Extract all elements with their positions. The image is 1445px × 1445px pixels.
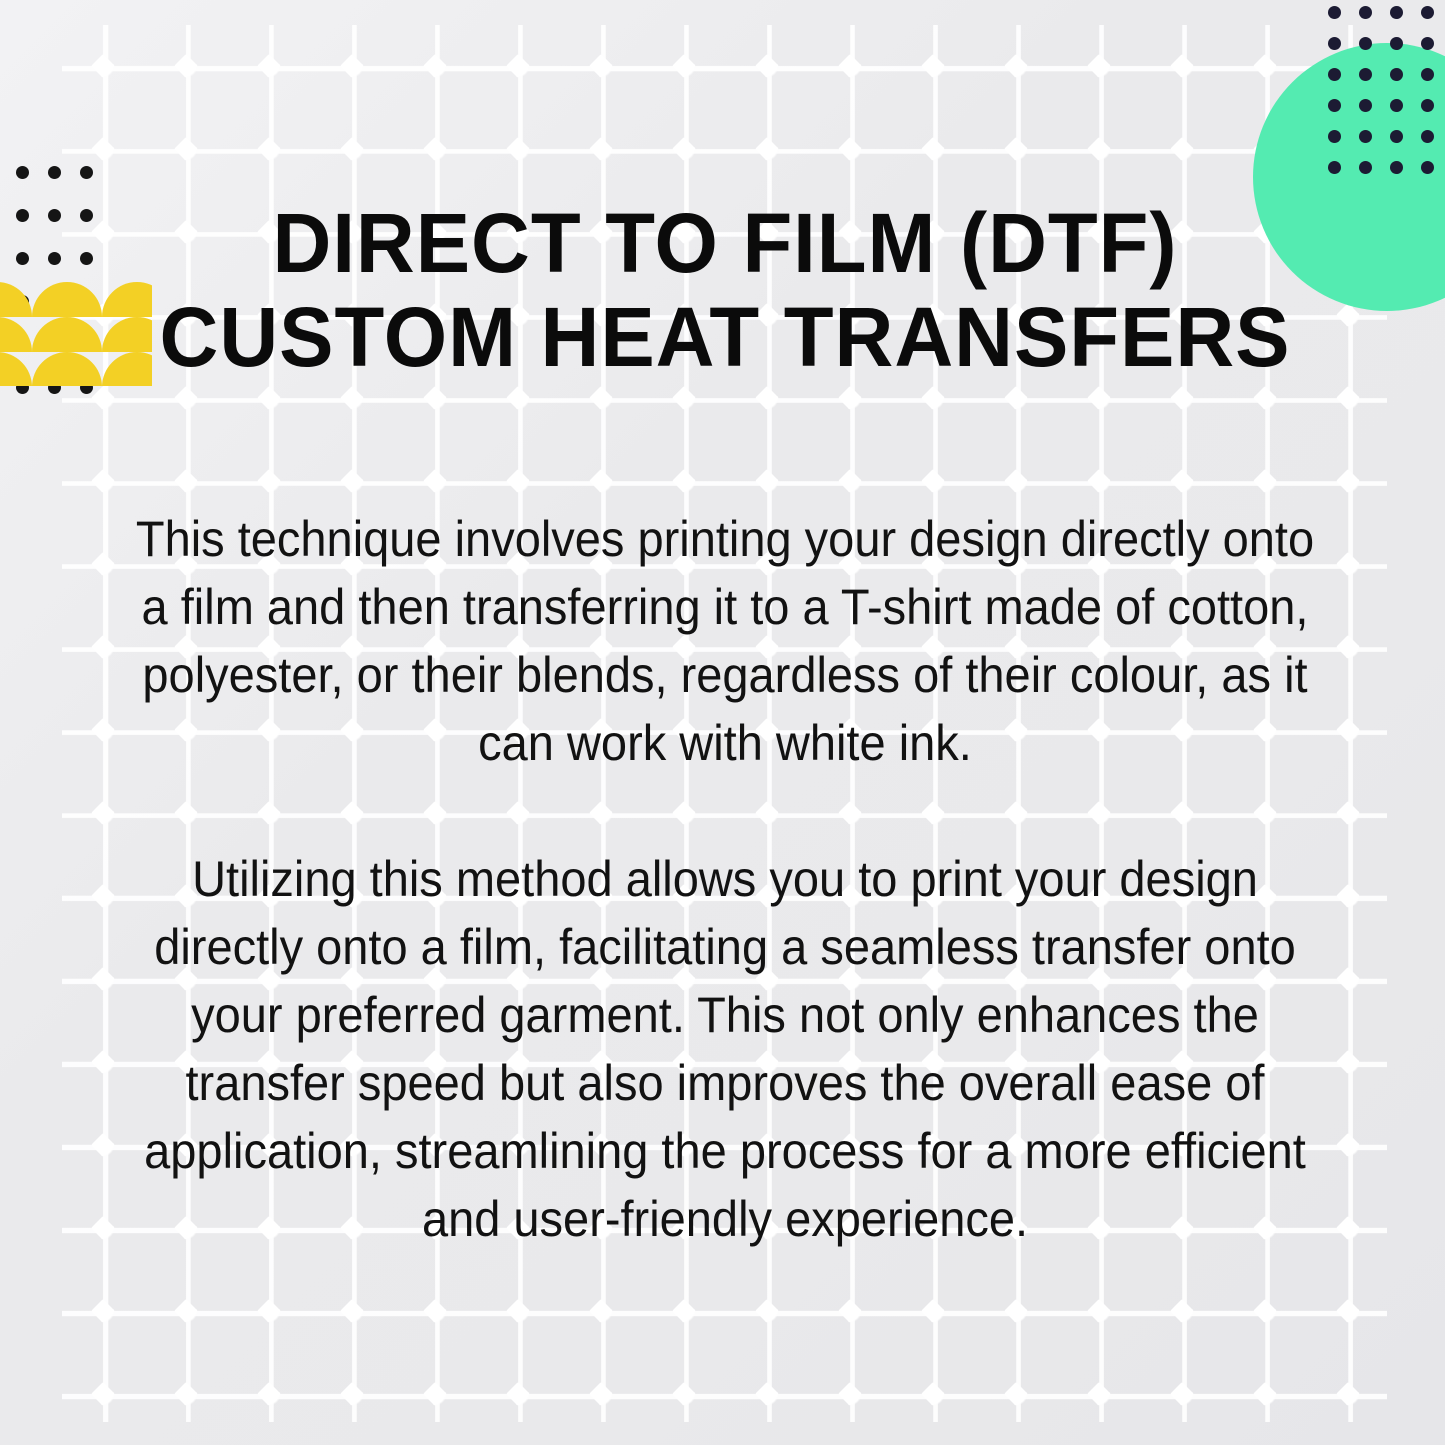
body-paragraph-2: Utilizing this method allows you to prin… — [134, 845, 1317, 1253]
poster-canvas: DIRECT TO FILM (DTF) CUSTOM HEAT TRANSFE… — [0, 0, 1445, 1445]
page-title-line-2: CUSTOM HEAT TRANSFERS — [128, 290, 1321, 384]
page-title: DIRECT TO FILM (DTF) CUSTOM HEAT TRANSFE… — [128, 196, 1321, 384]
body-paragraph-1: This technique involves printing your de… — [134, 505, 1317, 777]
page-title-line-1: DIRECT TO FILM (DTF) — [128, 196, 1321, 290]
poster-content: DIRECT TO FILM (DTF) CUSTOM HEAT TRANSFE… — [0, 0, 1445, 1445]
